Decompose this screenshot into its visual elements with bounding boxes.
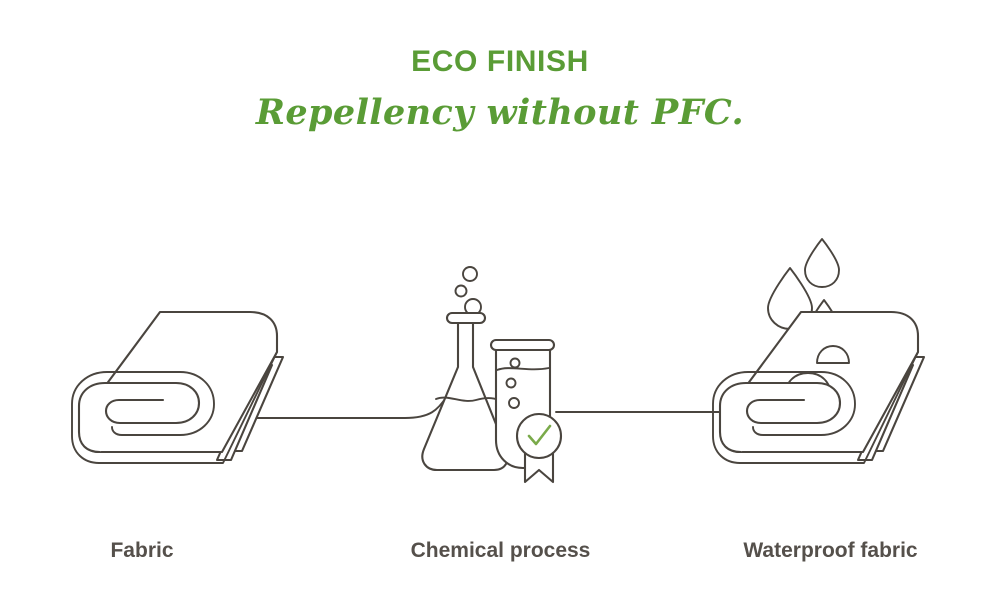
test-tube-bubble-2 [507,379,516,388]
waterproof-fabric-icon [713,239,924,463]
stage-caption-fabric: Fabric [42,538,242,564]
test-tube-bubble-1 [511,359,520,368]
badge-circle [517,414,561,458]
flask-bubble-1 [463,267,477,281]
flask-and-test-tube-icon [422,267,561,482]
process-illustration [0,0,1000,615]
water-droplet-2 [805,239,839,287]
test-tube-bubble-3 [509,398,519,408]
test-tube-rim [491,340,554,350]
flask-bubble-2 [456,286,467,297]
certified-check-badge-icon [517,414,561,482]
flask-rim [447,313,485,323]
infographic-canvas: ECO FINISH Repellency without PFC. [0,0,1000,615]
folded-fabric-icon [72,312,283,463]
stage-caption-waterproof-fabric: Waterproof fabric [718,538,943,564]
stage-caption-chemical-process: Chemical process [393,538,608,564]
